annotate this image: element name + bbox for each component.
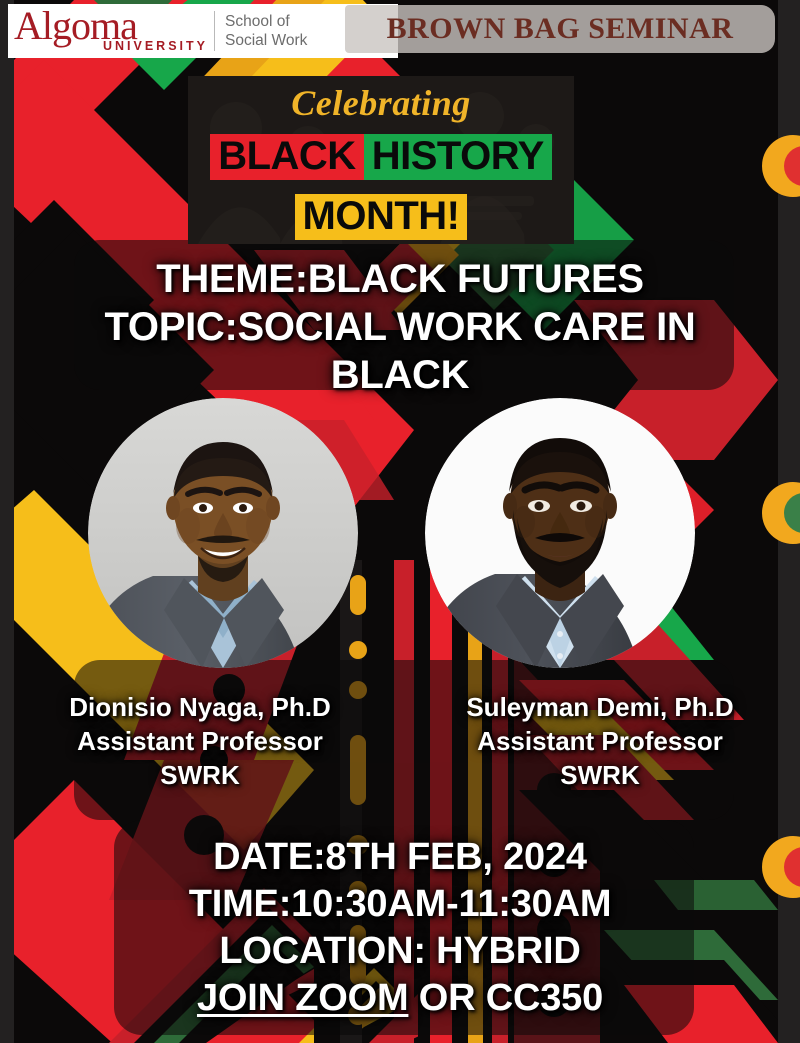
word-black-chip: BLACK — [210, 134, 363, 180]
word-month-chip: MONTH! — [295, 194, 468, 240]
brown-bag-seminar-label: BROWN BAG SEMINAR — [387, 12, 734, 46]
algoma-university-label: UNIVERSITY — [14, 39, 214, 53]
poster-header: Algoma UNIVERSITY School of Social Work … — [0, 0, 800, 62]
month-row: MONTH! — [188, 194, 574, 240]
join-alternate-room: OR CC350 — [408, 977, 603, 1019]
speaker-2-department: SWRK — [400, 758, 800, 792]
speaker-2-info: Suleyman Demi, Ph.D Assistant Professor … — [400, 690, 800, 792]
speaker-2-title: Assistant Professor — [400, 724, 800, 758]
speaker-1-department: SWRK — [0, 758, 400, 792]
event-join-line: JOIN ZOOM OR CC350 — [40, 975, 760, 1022]
algoma-logo: Algoma UNIVERSITY — [8, 4, 214, 58]
speakers-block: Dionisio Nyaga, Ph.D Assistant Professor… — [0, 690, 800, 792]
speaker-2-photo — [425, 398, 695, 668]
theme-line: THEME:BLACK FUTURES — [40, 255, 760, 303]
word-history-chip: HISTORY — [364, 134, 552, 180]
celebrating-script-text: Celebrating — [188, 82, 574, 124]
speaker-1-info: Dionisio Nyaga, Ph.D Assistant Professor… — [0, 690, 400, 792]
speaker-1-name: Dionisio Nyaga, Ph.D — [0, 690, 400, 724]
topic-line: TOPIC:SOCIAL WORK CARE IN — [40, 303, 760, 351]
algoma-wordmark: Algoma — [14, 9, 214, 43]
event-location: LOCATION: HYBRID — [40, 928, 760, 975]
left-edge-bar — [0, 0, 14, 1043]
event-details-block: DATE:8TH FEB, 2024 TIME:10:30AM-11:30AM … — [40, 834, 760, 1022]
topic-line-continued: BLACK — [40, 351, 760, 399]
event-date: DATE:8TH FEB, 2024 — [40, 834, 760, 881]
join-zoom-link[interactable]: JOIN ZOOM — [197, 977, 408, 1019]
headshot-dionisio-nyaga-icon — [88, 398, 358, 668]
speaker-2-name: Suleyman Demi, Ph.D — [400, 690, 800, 724]
speaker-1-photo — [88, 398, 358, 668]
black-history-row: BLACKHISTORY — [188, 134, 574, 180]
event-time: TIME:10:30AM-11:30AM — [40, 881, 760, 928]
speaker-1-title: Assistant Professor — [0, 724, 400, 758]
headshot-suleyman-demi-icon — [425, 398, 695, 668]
theme-topic-block: THEME:BLACK FUTURES TOPIC:SOCIAL WORK CA… — [40, 255, 760, 399]
black-history-month-banner: Celebrating BLACKHISTORY MONTH! — [188, 76, 574, 244]
brown-bag-seminar-banner: BROWN BAG SEMINAR — [345, 5, 775, 53]
seminar-poster: Algoma UNIVERSITY School of Social Work … — [0, 0, 800, 1043]
algoma-logo-lockup: Algoma UNIVERSITY School of Social Work — [8, 4, 398, 58]
